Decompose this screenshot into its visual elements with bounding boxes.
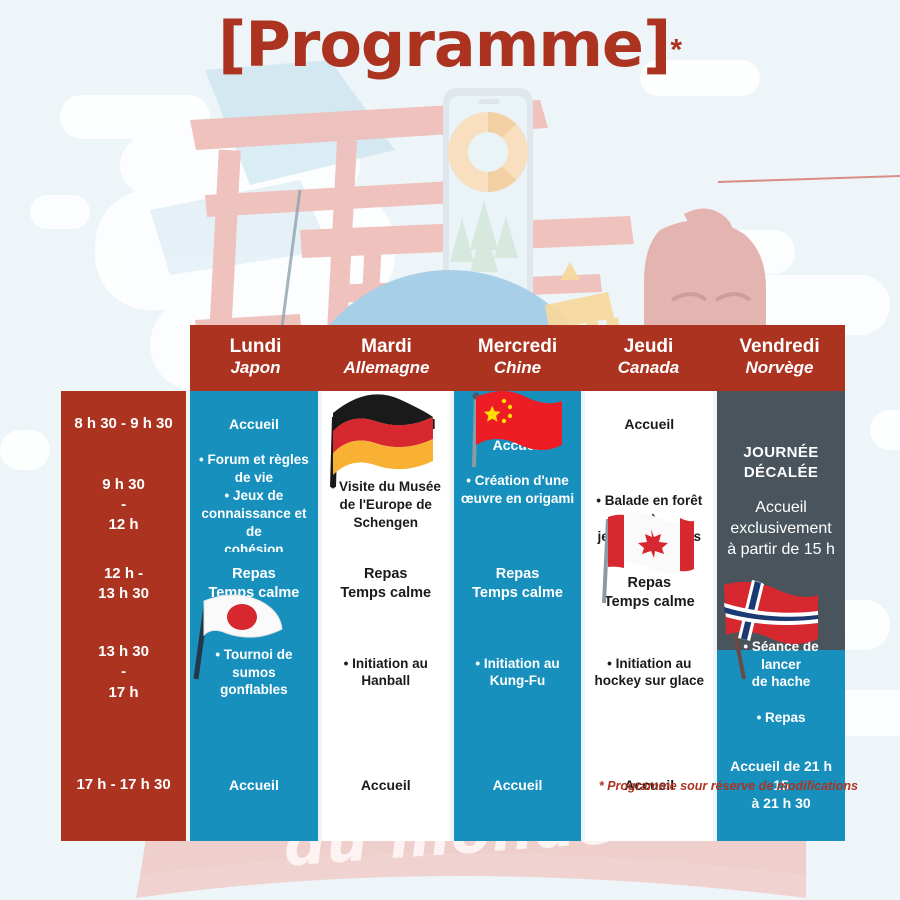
schedule-header-row: Lundi Japon Mardi Allemagne Mercredi Chi… [190,325,845,391]
header-country-label: Canada [583,358,714,379]
cell-mardi-repas: Repas Temps calme [322,552,450,616]
cell-vendredi-journee-decalee: JOURNÉE DÉCALÉE Accueil exclusivement à … [717,391,845,612]
cell-lundi-activite-apresmidi: • Tournoi de sumos gonflables [190,616,318,729]
day-columns: Accueil • Forum et règles de vie • Jeux … [190,391,845,841]
cell-jeudi-accueil-matin: Accueil [585,391,713,458]
header-day-label: Vendredi [714,335,845,358]
time-slot: 12 h - 13 h 30 [61,552,186,616]
cell-mardi-activite-matin: • Visite du Musée de l'Europe de Schenge… [322,458,450,552]
header-day-label: Lundi [190,335,321,358]
cell-mercredi-repas: Repas Temps calme [454,552,582,616]
cell-mardi-activite-apresmidi: • Initiation au Hanball [322,616,450,729]
column-header-jeudi: Jeudi Canada [583,335,714,379]
day-column-vendredi: JOURNÉE DÉCALÉE Accueil exclusivement à … [717,391,845,841]
header-country-label: Japon [190,358,321,379]
cell-lundi-repas: Repas Temps calme [190,552,318,616]
day-column-mercredi: Accueil • Création d'une œuvre en origam… [454,391,582,841]
column-header-mardi: Mardi Allemagne [321,335,452,379]
cell-vendredi-activite-apresmidi: • Séance de lancer de hache • Repas [717,650,845,729]
journee-decalee-heading: JOURNÉE DÉCALÉE [743,443,818,483]
cell-lundi-accueil-matin: Accueil [190,391,318,458]
journee-decalee-body: Accueil exclusivement à partir de 15 h [727,497,835,560]
header-day-label: Mercredi [452,335,583,358]
header-country-label: Chine [452,358,583,379]
cell-jeudi-activite-apresmidi: • Initiation au hockey sur glace [585,616,713,729]
day-column-lundi: Accueil • Forum et règles de vie • Jeux … [190,391,318,841]
header-country-label: Norvège [714,358,845,379]
cell-mercredi-accueil-matin: Accueil [454,391,582,458]
cell-mercredi-activite-matin: • Création d'une œuvre en origami [454,458,582,552]
page-title: [Programme]* [0,14,900,76]
day-column-mardi: Accueil • Visite du Musée de l'Europe de… [322,391,450,841]
time-slot: 8 h 30 - 9 h 30 [61,391,186,458]
time-slot: 9 h 30 - 12 h [61,458,186,552]
page-title-asterisk: * [670,34,682,67]
schedule-table: Lundi Japon Mardi Allemagne Mercredi Chi… [61,325,845,841]
column-header-lundi: Lundi Japon [190,335,321,379]
cell-mercredi-activite-apresmidi: • Initiation au Kung-Fu [454,616,582,729]
column-header-vendredi: Vendredi Norvège [714,335,845,379]
schedule-body: 8 h 30 - 9 h 30 9 h 30 - 12 h 12 h - 13 … [61,391,845,841]
cell-mardi-accueil-matin: Accueil [322,391,450,458]
header-day-label: Jeudi [583,335,714,358]
footnote: * Programme sour réserve de modification… [0,779,858,793]
column-header-mercredi: Mercredi Chine [452,335,583,379]
time-slot: 13 h 30 - 17 h [61,616,186,729]
header-day-label: Mardi [321,335,452,358]
page-title-text: [Programme] [218,14,670,76]
header-country-label: Allemagne [321,358,452,379]
day-column-jeudi: Accueil • Balade en forêt et jeux coopér… [585,391,713,841]
cell-jeudi-repas: Repas Temps calme [585,552,713,616]
time-column: 8 h 30 - 9 h 30 9 h 30 - 12 h 12 h - 13 … [61,391,186,841]
cell-lundi-activite-matin: • Forum et règles de vie • Jeux de conna… [190,458,318,552]
cell-jeudi-activite-matin: • Balade en forêt et jeux coopératifs [585,458,713,552]
